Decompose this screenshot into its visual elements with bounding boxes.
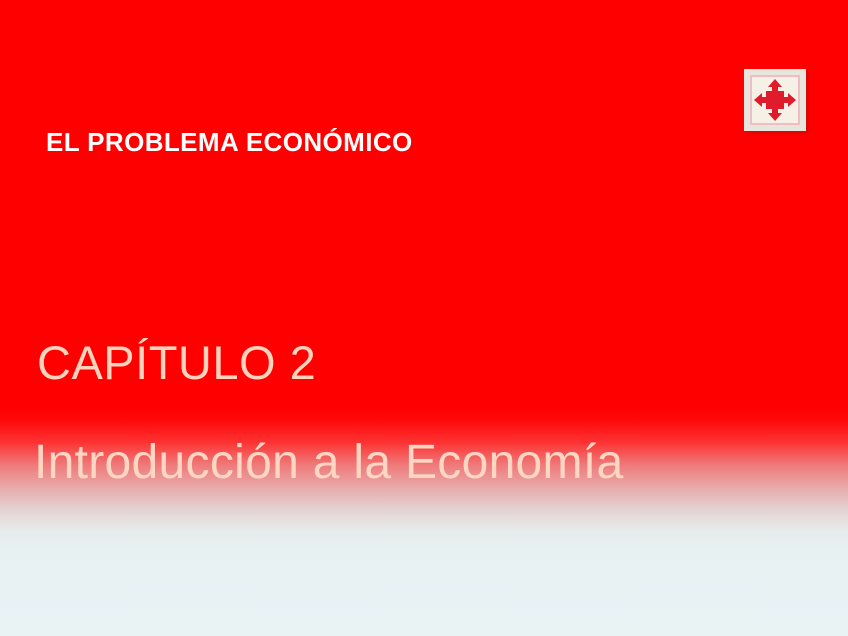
institution-logo [744,69,806,131]
presentation-slide: EL PROBLEMA ECONÓMICO CAPÍTULO 2 Introdu… [0,0,848,636]
slide-header-title: EL PROBLEMA ECONÓMICO [46,128,413,157]
subject-title-text: Introducción a la Economía [34,437,623,490]
chapter-number-text: CAPÍTULO 2 [37,337,316,389]
slide-background-gradient [0,0,848,636]
four-arrow-cross-emblem-icon [752,77,798,123]
